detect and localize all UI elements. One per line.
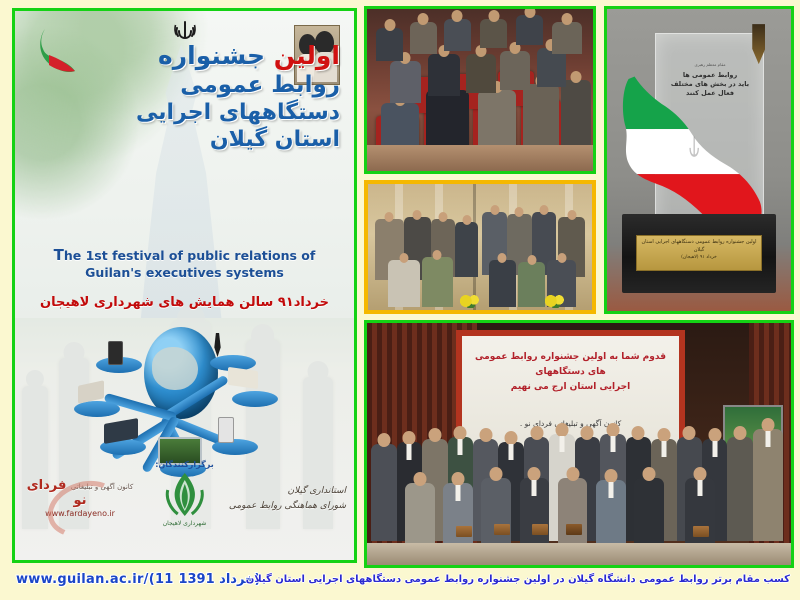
sponsor-governor-office: استانداری گیلان شورای هماهنگی روابط عموم… — [229, 484, 346, 514]
sponsor-governor-line2: شورای هماهنگی روابط عمومی — [229, 499, 346, 514]
stage-floor — [367, 543, 791, 565]
auditorium-floor — [367, 145, 593, 171]
poster-title-line2: روابط عمومی — [90, 71, 340, 99]
poster-title-line3: دستگاههای اجرایی — [90, 99, 340, 126]
poster-title-line4: استان گیلان — [90, 126, 340, 153]
sponsor-governor-line1: استانداری گیلان — [229, 484, 346, 499]
sponsor-organizers: برگزارکنندگان: شهرداری لاهیجان — [155, 460, 213, 527]
lahijan-municipality-emblem-icon — [162, 470, 208, 522]
organizers-label: برگزارکنندگان: — [155, 460, 213, 469]
poster-title: اولین جشنواره روابط عمومی دستگاههای اجرا… — [90, 41, 340, 153]
screenshot-canvas: اولین جشنواره روابط عمومی دستگاههای اجرا… — [0, 0, 800, 600]
projection-screen-text: قدوم شما به اولین جشنواره روابط عمومی ها… — [475, 350, 666, 395]
trophy-photo[interactable]: مقام معظم رهبری روابط عمومی ها باید در ب… — [604, 6, 794, 314]
audience-photo-beige-hall[interactable] — [364, 180, 596, 314]
trophy-brass-plate: اولین جشنواره روابط عمومی دستگاههای اجرا… — [636, 235, 763, 271]
poster-english-lead-letter: T — [54, 246, 64, 264]
trophy-plaque-attribution: مقام معظم رهبری — [662, 60, 758, 69]
iran-map-flag-icon — [31, 25, 83, 77]
poster-title-line1-blue: جشنواره — [158, 41, 265, 70]
projection-screen-line2: اجرایی استان ارج می نهیم — [475, 380, 666, 395]
group-photo-ceremony[interactable]: قدوم شما به اولین جشنواره روابط عمومی ها… — [364, 320, 794, 568]
caption-bottom-left: www.guilan.ac.ir/(11 خرداد 1391) — [16, 572, 261, 587]
poster-english-subtitle: The 1st festival of public relations of … — [15, 247, 354, 281]
poster-title-line1-red: اولین — [274, 41, 340, 70]
caption-bottom-right: کسب مقام برتر روابط عمومی دانشگاه گیلان … — [246, 574, 790, 585]
trophy-plate-line2: خرداد ۹۱ (لاهیجان) — [637, 254, 762, 262]
sponsor-fardayeno: کانون آگهی و تبلیغاتی فردای نو www.farda… — [25, 478, 135, 518]
trophy-base: اولین جشنواره روابط عمومی دستگاههای اجرا… — [622, 214, 777, 293]
poster-sponsors: استانداری گیلان شورای هماهنگی روابط عموم… — [15, 460, 354, 552]
poster-date-venue: خرداد۹۱ سالن همایش های شهرداری لاهیجان — [15, 295, 354, 310]
poster-artwork: اولین جشنواره روابط عمومی دستگاههای اجرا… — [15, 11, 354, 560]
event-poster[interactable]: اولین جشنواره روابط عمومی دستگاههای اجرا… — [12, 8, 357, 563]
poster-english-line2: Guilan's executives systems — [15, 264, 354, 281]
trophy-plate-line1: اولین جشنواره روابط عمومی دستگاههای اجرا… — [637, 238, 762, 254]
audience-photo-auditorium-red-seats[interactable] — [364, 6, 596, 174]
poster-english-line1: he 1st festival of public relations of — [64, 248, 315, 263]
projection-screen-line1: قدوم شما به اولین جشنواره روابط عمومی ها… — [475, 350, 666, 380]
lahijan-municipality-caption: شهرداری لاهیجان — [155, 520, 213, 527]
